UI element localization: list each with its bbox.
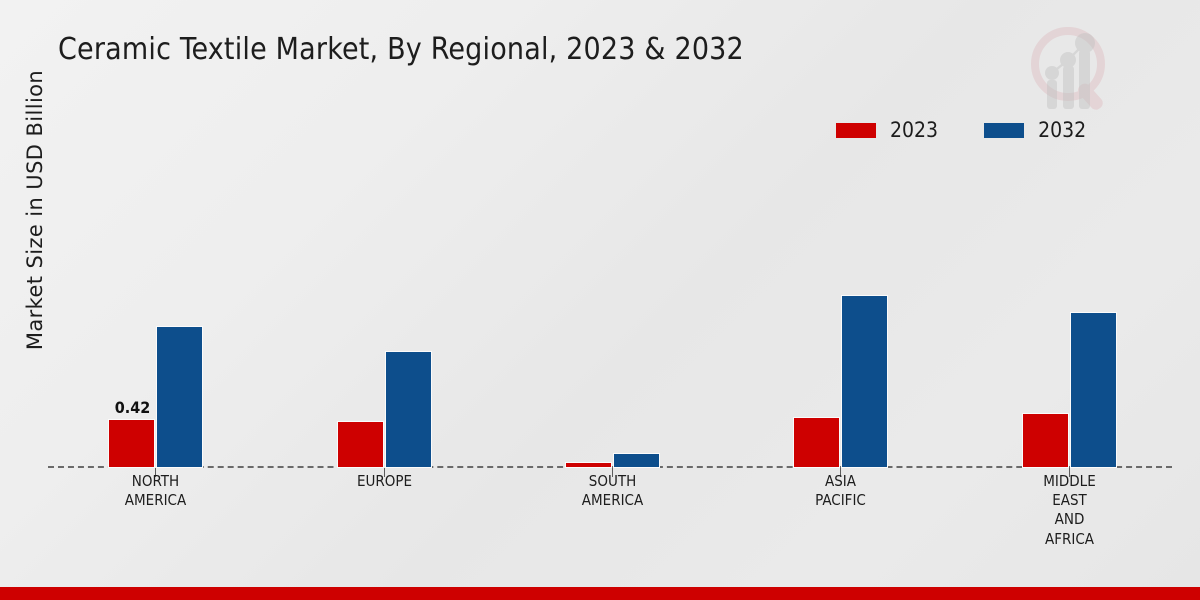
bar-group-middle-east-and-africa: MIDDLE EAST AND AFRICA bbox=[1022, 170, 1117, 468]
chart-legend: 2023 2032 bbox=[836, 120, 1086, 141]
bar-2023-south-america[interactable] bbox=[565, 462, 612, 468]
bottom-accent-band bbox=[0, 587, 1200, 600]
category-line: EUROPE bbox=[357, 472, 412, 490]
bar-2023-middle-east-and-africa[interactable] bbox=[1022, 413, 1069, 468]
legend-item-2023[interactable]: 2023 bbox=[836, 120, 938, 141]
legend-label-2032: 2032 bbox=[1038, 120, 1086, 141]
bar-group-asia-pacific: ASIA PACIFIC bbox=[793, 170, 888, 468]
x-axis-category-north-america: NORTH AMERICA bbox=[53, 472, 258, 510]
bar-2023-north-america[interactable]: 0.42 bbox=[108, 419, 155, 468]
x-axis-category-south-america: SOUTH AMERICA bbox=[510, 472, 715, 510]
x-axis-category-asia-pacific: ASIA PACIFIC bbox=[738, 472, 943, 510]
bar-group-north-america: 0.42 NORTH AMERICA bbox=[108, 170, 203, 468]
category-line: MIDDLE bbox=[1043, 472, 1095, 490]
x-axis-category-middle-east-and-africa: MIDDLE EAST AND AFRICA bbox=[967, 472, 1172, 549]
bar-group-europe: EUROPE bbox=[337, 170, 432, 468]
category-line: NORTH bbox=[132, 472, 179, 490]
bar-2032-europe[interactable] bbox=[385, 351, 432, 468]
category-line: EAST bbox=[1052, 491, 1087, 509]
category-line: AMERICA bbox=[582, 491, 643, 509]
bar-2023-europe[interactable] bbox=[337, 421, 384, 468]
bar-2032-asia-pacific[interactable] bbox=[841, 295, 888, 468]
y-axis-label: Market Size in USD Billion bbox=[23, 45, 47, 375]
x-axis-category-europe: EUROPE bbox=[282, 472, 487, 491]
market-research-logo-icon bbox=[1018, 14, 1122, 114]
bar-2032-north-america[interactable] bbox=[156, 326, 203, 468]
plot-area: 0.42 NORTH AMERICA EUROPE bbox=[48, 170, 1172, 468]
bar-group-south-america: SOUTH AMERICA bbox=[565, 170, 660, 468]
bar-2032-middle-east-and-africa[interactable] bbox=[1070, 312, 1117, 468]
category-line: AMERICA bbox=[125, 491, 186, 509]
category-line: ASIA bbox=[825, 472, 856, 490]
bar-2032-south-america[interactable] bbox=[613, 453, 660, 468]
chart-figure: Ceramic Textile Market, By Regional, 202… bbox=[0, 0, 1200, 600]
bar-value-label: 0.42 bbox=[106, 398, 159, 417]
legend-label-2023: 2023 bbox=[890, 120, 938, 141]
category-line: AND bbox=[1055, 510, 1085, 528]
category-line: AFRICA bbox=[1045, 530, 1094, 548]
category-line: PACIFIC bbox=[815, 491, 866, 509]
legend-item-2032[interactable]: 2032 bbox=[984, 120, 1086, 141]
category-line: SOUTH bbox=[589, 472, 636, 490]
legend-swatch-2023 bbox=[836, 123, 876, 138]
chart-title: Ceramic Textile Market, By Regional, 202… bbox=[58, 32, 744, 67]
bar-2023-asia-pacific[interactable] bbox=[793, 417, 840, 468]
legend-swatch-2032 bbox=[984, 123, 1024, 138]
